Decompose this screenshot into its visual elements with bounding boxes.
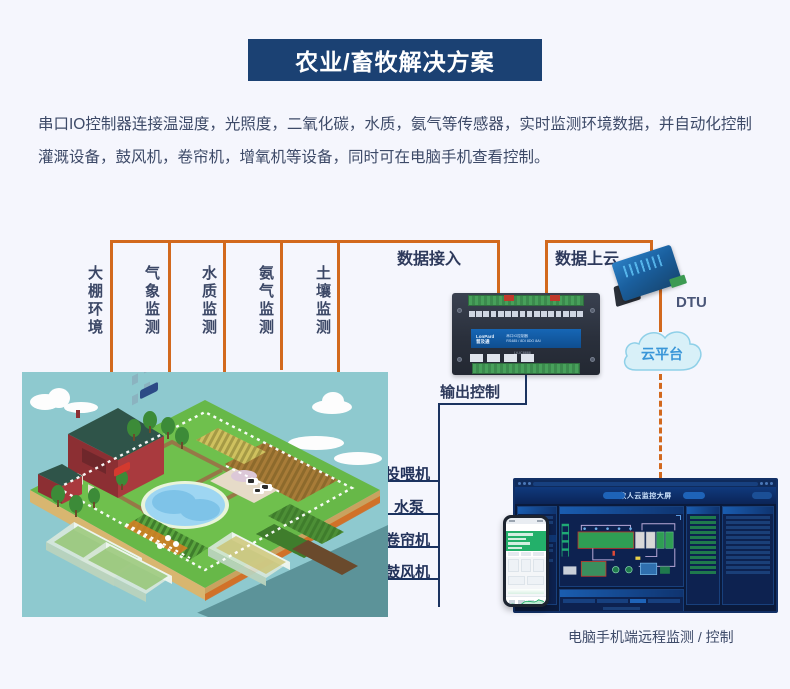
- sensor-label-ammonia: 氨气监测: [256, 265, 275, 337]
- dashboard-header: 数人云监控大屏: [515, 487, 776, 504]
- output-control-elbow: [438, 403, 527, 405]
- alarm-row: [690, 566, 716, 569]
- log-row: [726, 521, 770, 524]
- mobile-phone-mockup[interactable]: [503, 515, 549, 607]
- sensor-label-water-quality: 水质监测: [199, 265, 218, 337]
- browser-chrome-bar: [515, 480, 776, 487]
- dashboard-user-pill[interactable]: [752, 492, 772, 499]
- alarm-row: [690, 546, 716, 549]
- panel-header: [518, 507, 556, 514]
- dashboard-log-panel: [722, 506, 774, 605]
- browser-url-bar[interactable]: [533, 482, 758, 486]
- sensor-bracket-to-controller: [497, 240, 500, 296]
- phone-metric-grid-2: [506, 574, 546, 587]
- alarm-row: [690, 541, 716, 544]
- dashboard-center-column: [559, 506, 684, 605]
- dashboard-pill-left[interactable]: [603, 492, 625, 499]
- intro-paragraph: 串口IO控制器连接温湿度，光照度，二氧化碳，水质，氨气等传感器，实时监测环境数据…: [38, 108, 752, 174]
- sensor-label-soil: 土壤监测: [313, 265, 332, 337]
- search-button[interactable]: [630, 599, 646, 603]
- monitor-caption: 电脑手机端远程监测 / 控制: [568, 627, 734, 647]
- dtu-device: [611, 244, 682, 301]
- filter-select[interactable]: [563, 599, 595, 603]
- sensor-bracket-drop-3: [223, 240, 226, 375]
- phone-battery-icon: [537, 520, 543, 522]
- cloud-platform-shape: 云平台: [620, 322, 704, 374]
- output-control-vertical-spine: [438, 403, 440, 607]
- alarm-row: [690, 556, 716, 559]
- log-row: [726, 541, 770, 544]
- phone-trend-chart: [508, 589, 544, 594]
- output-control-vertical-trunk: [525, 375, 527, 403]
- alarm-row: [690, 561, 716, 564]
- phone-signal-icon: [509, 520, 515, 522]
- page-title: 农业/畜牧解决方案: [295, 43, 494, 77]
- filter-select[interactable]: [597, 599, 629, 603]
- cloud-to-monitor-dashed-line: [659, 374, 662, 478]
- log-row: [726, 556, 770, 559]
- alarm-row: [690, 531, 716, 534]
- output-label-pump: 水泵: [394, 496, 424, 517]
- panel-header: [560, 590, 683, 597]
- panel-header: [723, 507, 773, 514]
- panel-header: [560, 507, 683, 514]
- log-row: [726, 516, 770, 519]
- sensor-bracket-drop-4: [280, 240, 283, 370]
- farm-illustration: [22, 372, 388, 617]
- page-title-banner: 农业/畜牧解决方案: [248, 39, 542, 81]
- dashboard-body: [515, 504, 776, 607]
- alarm-row: [690, 521, 716, 524]
- sensor-label-weather: 气象监测: [142, 265, 161, 337]
- desktop-dashboard-monitor[interactable]: 数人云监控大屏: [513, 478, 778, 613]
- dtu-label-strip: [623, 254, 665, 278]
- alarm-row: [690, 551, 716, 554]
- cloud-bracket-horizontal: [545, 240, 653, 243]
- phone-metric-grid: [506, 557, 546, 574]
- farm-ground-plate: [22, 372, 388, 617]
- log-row: [726, 571, 770, 574]
- label-data-to-cloud: 数据上云: [555, 245, 619, 269]
- alarm-row: [690, 526, 716, 529]
- dtu-body: [611, 244, 682, 301]
- phone-nav-bar: [506, 524, 546, 531]
- cloud-bracket-drop-left: [545, 240, 548, 298]
- panel-header: [687, 507, 719, 514]
- log-row: [726, 566, 770, 569]
- log-row: [726, 551, 770, 554]
- sensor-label-greenhouse: 大棚环境: [85, 265, 104, 337]
- log-row: [726, 526, 770, 529]
- dashboard-title: 数人云监控大屏: [619, 491, 672, 501]
- filter-select[interactable]: [648, 599, 680, 603]
- dtu-text-label: DTU: [676, 294, 707, 311]
- alarm-row: [690, 536, 716, 539]
- scada-diagram-panel[interactable]: [559, 506, 684, 587]
- panel-line: [603, 607, 640, 610]
- label-output-control: 输出控制: [440, 381, 500, 402]
- output-label-blower: 鼓风机: [385, 561, 430, 582]
- dashboard-alarm-panel: [686, 506, 720, 605]
- output-label-feeder: 投喂机: [385, 463, 430, 484]
- alarm-row: [690, 516, 716, 519]
- log-row: [726, 561, 770, 564]
- log-row: [726, 531, 770, 534]
- trend-line-icon: [508, 589, 544, 604]
- controller-mounting-screws: [452, 293, 600, 375]
- cloud-platform-label: 云平台: [620, 344, 704, 364]
- io-controller-device: LonPard 普及通 串口IO控制器 RS485 / 8DI 8DO 8AI …: [452, 293, 600, 375]
- phone-hero-card: [506, 531, 546, 551]
- label-data-access: 数据接入: [397, 245, 461, 269]
- sensor-bracket-drop-5: [337, 240, 340, 375]
- panel-expand-icon[interactable]: [676, 515, 681, 520]
- scada-process-diagram: [560, 514, 683, 586]
- phone-screen: [506, 518, 546, 604]
- output-label-shutter: 卷帘机: [385, 529, 430, 550]
- dashboard-bottom-panel: [559, 589, 684, 613]
- log-row: [726, 546, 770, 549]
- alarm-row: [690, 571, 716, 574]
- log-row: [726, 536, 770, 539]
- dashboard-pill-right[interactable]: [683, 492, 705, 499]
